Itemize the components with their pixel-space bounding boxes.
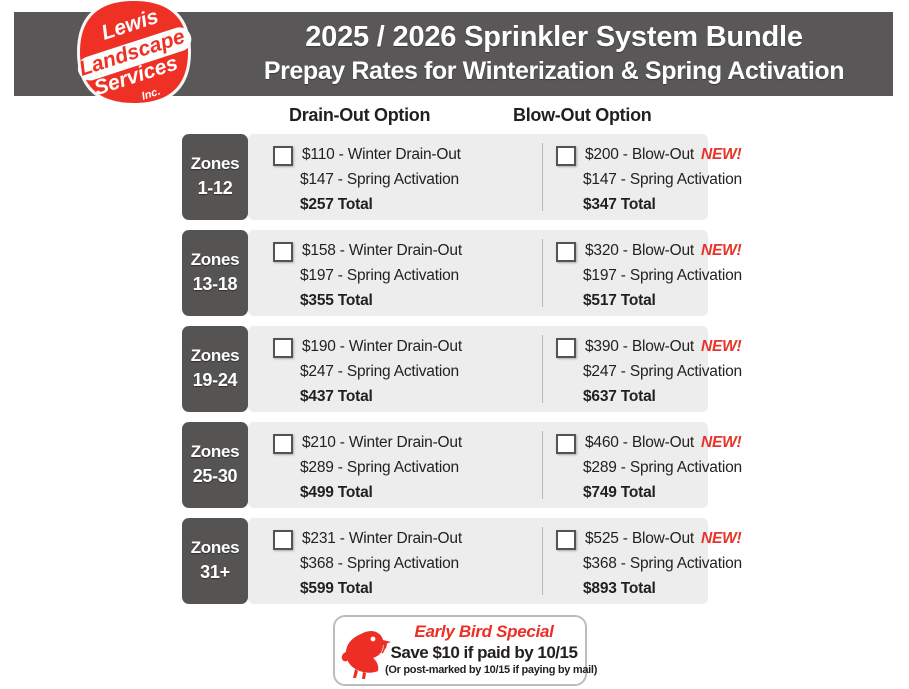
drain-out-option: $210 - Winter Drain-Out $289 - Spring Ac… <box>273 430 533 500</box>
drain-out-total: $355 Total <box>300 288 533 313</box>
drain-out-checkbox[interactable] <box>273 338 293 358</box>
row-panel: $158 - Winter Drain-Out $197 - Spring Ac… <box>248 230 708 316</box>
page-title: 2025 / 2026 Sprinkler System Bundle <box>305 22 803 54</box>
zone-label: Zones 31+ <box>182 518 248 604</box>
blow-out-total: $347 Total <box>583 192 771 217</box>
blow-out-price: $460 - Blow-Out <box>585 430 694 455</box>
table-row: Zones 19-24 $190 - Winter Drain-Out $247… <box>182 326 708 412</box>
drain-out-option: $231 - Winter Drain-Out $368 - Spring Ac… <box>273 526 533 596</box>
zone-range: 13-18 <box>193 274 238 296</box>
drain-out-price-line: $110 - Winter Drain-Out <box>273 142 533 167</box>
blow-out-activation: $247 - Spring Activation <box>583 359 771 384</box>
zone-label: Zones 13-18 <box>182 230 248 316</box>
blow-out-total: $749 Total <box>583 480 771 505</box>
blow-out-option: $200 - Blow-Out NEW! $147 - Spring Activ… <box>556 142 771 212</box>
early-bird-special-box: Early Bird Special Save $10 if paid by 1… <box>333 615 587 686</box>
new-badge: NEW! <box>701 430 742 455</box>
zone-word: Zones <box>191 154 240 174</box>
blow-out-checkbox[interactable] <box>556 242 576 262</box>
drain-out-checkbox[interactable] <box>273 530 293 550</box>
drain-out-option: $158 - Winter Drain-Out $197 - Spring Ac… <box>273 238 533 308</box>
drain-out-option: $110 - Winter Drain-Out $147 - Spring Ac… <box>273 142 533 212</box>
drain-out-checkbox[interactable] <box>273 242 293 262</box>
blow-out-price-line: $460 - Blow-Out NEW! <box>556 430 771 455</box>
new-badge: NEW! <box>701 142 742 167</box>
blow-out-activation: $147 - Spring Activation <box>583 167 771 192</box>
drain-out-activation: $289 - Spring Activation <box>300 455 533 480</box>
drain-out-total: $437 Total <box>300 384 533 409</box>
zone-label: Zones 19-24 <box>182 326 248 412</box>
blow-out-price: $200 - Blow-Out <box>585 142 694 167</box>
row-panel: $231 - Winter Drain-Out $368 - Spring Ac… <box>248 518 708 604</box>
blow-out-price: $320 - Blow-Out <box>585 238 694 263</box>
header-text-block: 2025 / 2026 Sprinkler System Bundle Prep… <box>215 12 893 96</box>
blow-out-activation: $197 - Spring Activation <box>583 263 771 288</box>
drain-out-price: $231 - Winter Drain-Out <box>302 526 462 551</box>
drain-out-price-line: $158 - Winter Drain-Out <box>273 238 533 263</box>
blow-out-total: $517 Total <box>583 288 771 313</box>
drain-out-activation: $147 - Spring Activation <box>300 167 533 192</box>
new-badge: NEW! <box>701 238 742 263</box>
zone-word: Zones <box>191 346 240 366</box>
zone-label: Zones 25-30 <box>182 422 248 508</box>
drain-out-activation: $368 - Spring Activation <box>300 551 533 576</box>
drain-out-total: $499 Total <box>300 480 533 505</box>
rate-rows: Zones 1-12 $110 - Winter Drain-Out $147 … <box>182 134 708 614</box>
column-divider <box>542 431 543 499</box>
early-bird-title: Early Bird Special <box>385 622 583 642</box>
zone-range: 19-24 <box>193 370 238 392</box>
blow-out-price: $525 - Blow-Out <box>585 526 694 551</box>
column-divider <box>542 143 543 211</box>
table-row: Zones 13-18 $158 - Winter Drain-Out $197… <box>182 230 708 316</box>
blow-out-checkbox[interactable] <box>556 530 576 550</box>
column-divider <box>542 335 543 403</box>
early-bird-offer: Save $10 if paid by 10/15 <box>385 642 583 663</box>
blow-out-checkbox[interactable] <box>556 434 576 454</box>
drain-out-price: $210 - Winter Drain-Out <box>302 430 462 455</box>
blow-out-checkbox[interactable] <box>556 146 576 166</box>
blow-out-option: $390 - Blow-Out NEW! $247 - Spring Activ… <box>556 334 771 404</box>
blow-out-price-line: $200 - Blow-Out NEW! <box>556 142 771 167</box>
blow-out-price-line: $320 - Blow-Out NEW! <box>556 238 771 263</box>
table-row: Zones 31+ $231 - Winter Drain-Out $368 -… <box>182 518 708 604</box>
column-headers: Drain-Out Option Blow-Out Option <box>182 105 708 131</box>
blow-out-total: $637 Total <box>583 384 771 409</box>
blow-out-price: $390 - Blow-Out <box>585 334 694 359</box>
drain-out-total: $599 Total <box>300 576 533 601</box>
early-bird-text: Early Bird Special Save $10 if paid by 1… <box>385 622 583 678</box>
zone-word: Zones <box>191 250 240 270</box>
new-badge: NEW! <box>701 526 742 551</box>
drain-out-price: $110 - Winter Drain-Out <box>302 142 461 167</box>
row-panel: $210 - Winter Drain-Out $289 - Spring Ac… <box>248 422 708 508</box>
zone-range: 1-12 <box>198 178 233 200</box>
drain-out-checkbox[interactable] <box>273 146 293 166</box>
drain-out-total: $257 Total <box>300 192 533 217</box>
drain-out-activation: $247 - Spring Activation <box>300 359 533 384</box>
blow-out-price-line: $390 - Blow-Out NEW! <box>556 334 771 359</box>
blow-out-activation: $368 - Spring Activation <box>583 551 771 576</box>
blow-out-activation: $289 - Spring Activation <box>583 455 771 480</box>
early-bird-note: (Or post-marked by 10/15 if paying by ma… <box>385 663 583 678</box>
blow-out-option: $460 - Blow-Out NEW! $289 - Spring Activ… <box>556 430 771 500</box>
drain-out-price-line: $231 - Winter Drain-Out <box>273 526 533 551</box>
zone-range: 25-30 <box>193 466 238 488</box>
row-panel: $110 - Winter Drain-Out $147 - Spring Ac… <box>248 134 708 220</box>
drain-out-price-line: $210 - Winter Drain-Out <box>273 430 533 455</box>
new-badge: NEW! <box>701 334 742 359</box>
zone-range: 31+ <box>200 562 230 584</box>
drain-out-price-line: $190 - Winter Drain-Out <box>273 334 533 359</box>
page-subtitle: Prepay Rates for Winterization & Spring … <box>264 57 844 86</box>
column-divider <box>542 527 543 595</box>
blow-out-total: $893 Total <box>583 576 771 601</box>
blow-out-checkbox[interactable] <box>556 338 576 358</box>
row-panel: $190 - Winter Drain-Out $247 - Spring Ac… <box>248 326 708 412</box>
drain-out-price: $158 - Winter Drain-Out <box>302 238 462 263</box>
drain-out-option: $190 - Winter Drain-Out $247 - Spring Ac… <box>273 334 533 404</box>
company-logo: Lewis Landscape Services Inc. <box>58 0 210 107</box>
drain-out-activation: $197 - Spring Activation <box>300 263 533 288</box>
blow-out-option: $320 - Blow-Out NEW! $197 - Spring Activ… <box>556 238 771 308</box>
table-row: Zones 1-12 $110 - Winter Drain-Out $147 … <box>182 134 708 220</box>
column-header-drain-out: Drain-Out Option <box>289 105 430 126</box>
column-header-blow-out: Blow-Out Option <box>513 105 651 126</box>
drain-out-price: $190 - Winter Drain-Out <box>302 334 462 359</box>
drain-out-checkbox[interactable] <box>273 434 293 454</box>
blow-out-price-line: $525 - Blow-Out NEW! <box>556 526 771 551</box>
zone-word: Zones <box>191 538 240 558</box>
table-row: Zones 25-30 $210 - Winter Drain-Out $289… <box>182 422 708 508</box>
column-divider <box>542 239 543 307</box>
zone-label: Zones 1-12 <box>182 134 248 220</box>
blow-out-option: $525 - Blow-Out NEW! $368 - Spring Activ… <box>556 526 771 596</box>
zone-word: Zones <box>191 442 240 462</box>
